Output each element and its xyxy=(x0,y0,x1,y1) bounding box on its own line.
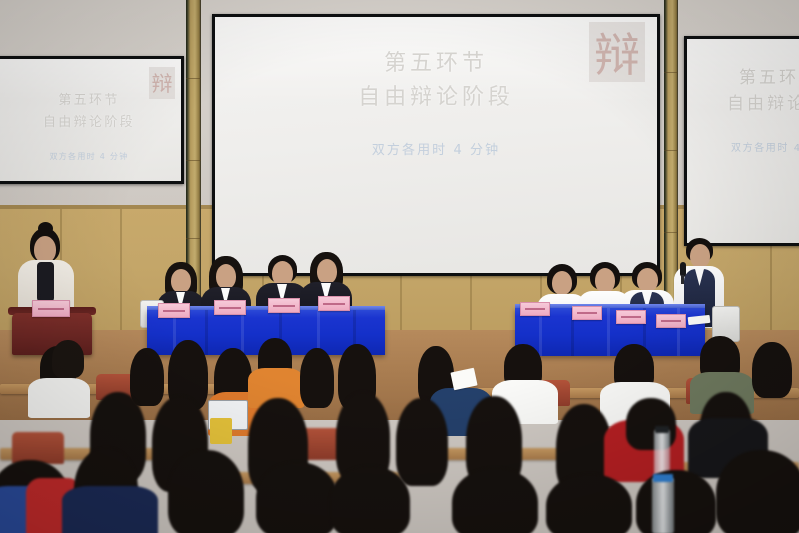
yellow-folder xyxy=(210,418,232,444)
wall-pillar-left xyxy=(186,0,201,300)
projection-screen-left: 辩 第五环节 自由辩论阶段 双方各用时 4 分钟 xyxy=(0,56,184,184)
audience-member xyxy=(546,474,632,533)
water-bottle xyxy=(652,478,674,533)
audience-member xyxy=(52,340,84,378)
face xyxy=(595,268,615,293)
face xyxy=(637,268,658,292)
slide-note: 双方各用时 4 分钟 xyxy=(215,139,657,158)
inner-top xyxy=(37,262,54,302)
hair-bun xyxy=(38,222,53,235)
face xyxy=(216,264,236,289)
projection-screen-main: 辩 第五环节 自由辩论阶段 双方各用时 4 分钟 xyxy=(212,14,660,276)
audience-member xyxy=(130,348,164,406)
namecard xyxy=(214,300,246,315)
audience-member xyxy=(716,450,799,533)
face xyxy=(552,271,572,295)
slide-heading: 第五环节 xyxy=(687,63,799,88)
bottle-cap xyxy=(655,426,669,433)
namecard xyxy=(572,306,602,320)
namecard xyxy=(268,298,300,313)
slide-subheading: 自由辩论阶段 xyxy=(0,111,181,130)
audience-body xyxy=(28,378,90,418)
audience-member xyxy=(636,470,716,533)
lecture-hall-photo: 辩 第五环节 自由辩论阶段 双方各用时 4 分钟 辩 第五环节 自由辩论阶段 双… xyxy=(0,0,799,533)
audience-member xyxy=(452,468,538,533)
face xyxy=(171,269,191,293)
microphone-handle xyxy=(681,275,684,284)
bottle-cap xyxy=(653,474,673,482)
audience-member xyxy=(396,398,448,486)
audience-member xyxy=(330,466,410,533)
seat xyxy=(12,432,64,464)
audience-member xyxy=(752,342,792,398)
audience-member xyxy=(256,462,338,533)
face xyxy=(690,244,710,268)
audience-member xyxy=(168,450,244,533)
projection-screen-right: 第五环节 自由辩论阶段 双方各用时 4 分钟 xyxy=(684,36,799,246)
audience-member xyxy=(300,348,334,408)
audience-body xyxy=(62,486,158,533)
slide-subheading: 自由辩论阶段 xyxy=(687,89,799,114)
namecard xyxy=(32,300,70,317)
slide-heading: 第五环节 xyxy=(215,45,657,77)
slide-subheading: 自由辩论阶段 xyxy=(215,79,657,111)
namecard xyxy=(520,302,550,316)
slide-heading: 第五环节 xyxy=(0,89,181,108)
face xyxy=(34,236,56,263)
namecard xyxy=(616,310,646,324)
namecard xyxy=(158,303,190,318)
slide-note: 双方各用时 4 分钟 xyxy=(0,151,181,162)
face xyxy=(317,259,337,284)
slide-note: 双方各用时 4 分钟 xyxy=(687,139,799,154)
namecard xyxy=(318,296,350,311)
namecard xyxy=(656,314,686,328)
